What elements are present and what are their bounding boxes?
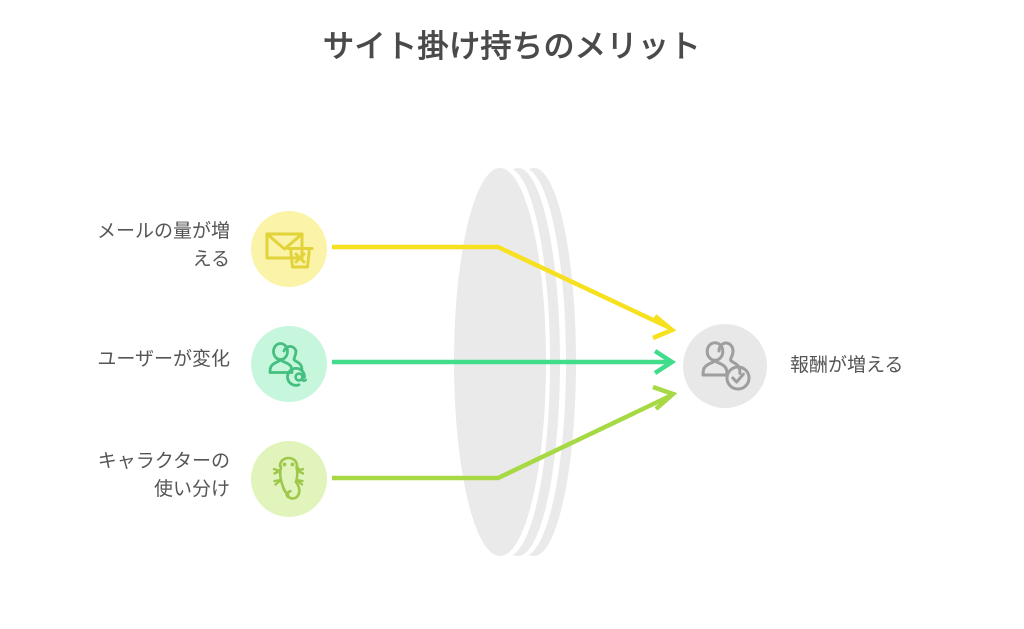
users-check-icon [698, 340, 752, 392]
chameleon-icon [267, 455, 311, 503]
users-at-icon [265, 341, 313, 387]
input-label-character: キャラクターの 使い分け [30, 448, 230, 503]
input-label-character-line2: 使い分け [30, 476, 230, 504]
input-label-user-line1: ユーザーが変化 [30, 346, 230, 374]
input-label-mail-line1: メールの量が増 [30, 218, 230, 246]
badge-envelope-trash [251, 211, 327, 287]
envelope-trash-icon [264, 227, 314, 271]
input-label-user: ユーザーが変化 [30, 346, 230, 374]
input-label-mail: メールの量が増 える [30, 218, 230, 273]
output-label-reward: 報酬が増える [790, 352, 1000, 380]
badge-users-check [683, 324, 767, 408]
input-label-mail-line2: える [30, 246, 230, 274]
input-label-character-line1: キャラクターの [30, 448, 230, 476]
badge-users-at [251, 326, 327, 402]
diagram-stage [0, 0, 1024, 629]
diagram-canvas: サイト掛け持ちのメリット メールの量が増 える [0, 0, 1024, 629]
badge-chameleon [251, 441, 327, 517]
